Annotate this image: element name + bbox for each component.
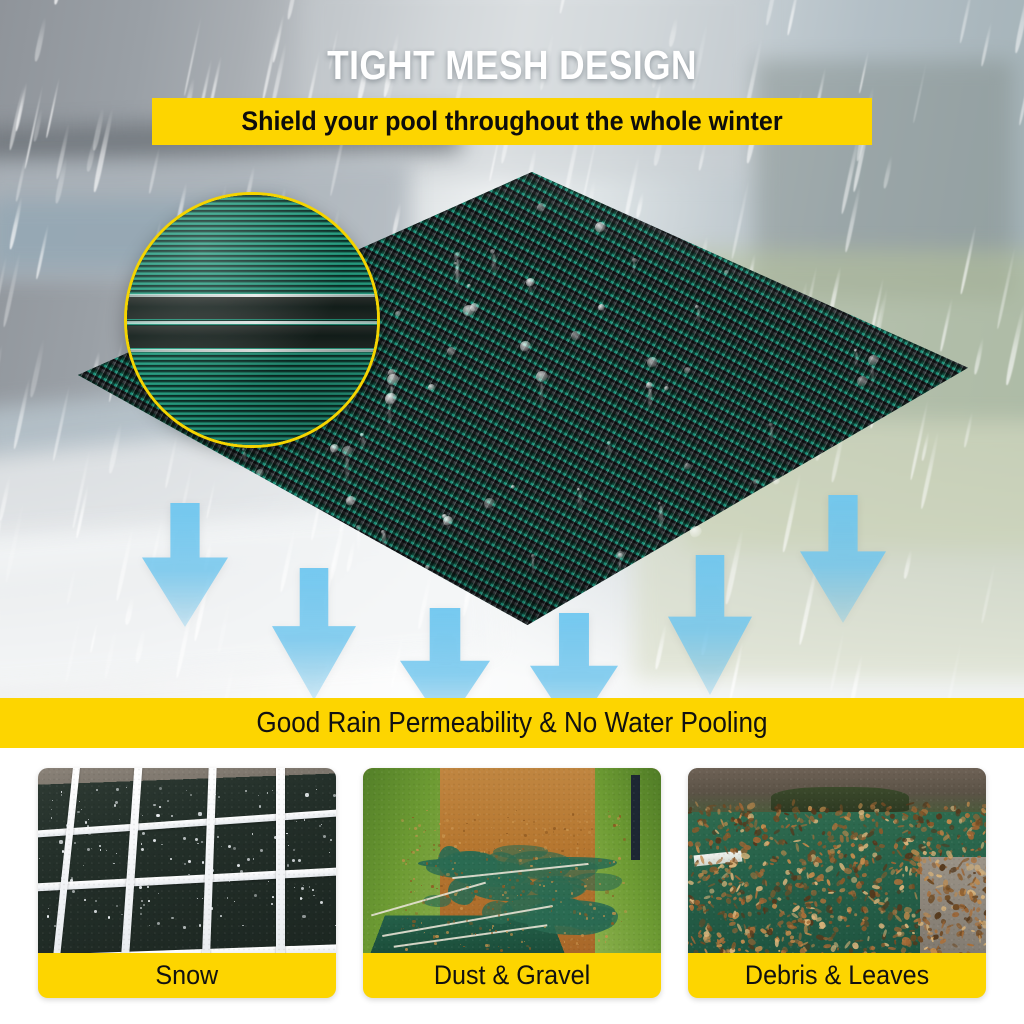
use-case-card[interactable]: Snow [38,768,336,998]
card-label-snow: Snow [38,953,336,998]
drainage-arrow [272,568,356,700]
card-label-debris-leaves: Debris & Leaves [688,953,986,998]
product-infographic-poster: TIGHT MESH DESIGN Shield your pool throu… [0,0,1024,1024]
card-label-dust-gravel: Dust & Gravel [363,953,661,998]
use-case-card[interactable]: Debris & Leaves [688,768,986,998]
drainage-arrow [400,608,490,700]
drainage-arrow [142,503,228,627]
zoom-detail-circle [124,192,380,448]
drainage-arrow [668,555,752,695]
drainage-arrow [800,495,886,623]
feature-banner-text: Good Rain Permeability & No Water Poolin… [256,707,767,740]
magnifier-gloss [127,195,377,445]
pool-cover-with-dust-and-gravel-photo [363,768,661,953]
fence-post [631,775,640,860]
pool-cover-with-debris-and-leaves-photo [688,768,986,953]
pool-cover-with-snow-photo [38,768,336,953]
subtitle-text: Shield your pool throughout the whole wi… [241,106,782,137]
use-case-card-row: Snow Dust & Gravel [0,768,1024,998]
drainage-arrow [530,613,618,700]
page-title: TIGHT MESH DESIGN [72,40,953,90]
hero-rain-scene: TIGHT MESH DESIGN Shield your pool throu… [0,0,1024,700]
subtitle-banner: Shield your pool throughout the whole wi… [152,98,872,145]
feature-banner: Good Rain Permeability & No Water Poolin… [0,698,1024,748]
snow-covered-pool-cover [38,772,336,953]
use-case-card[interactable]: Dust & Gravel [363,768,661,998]
